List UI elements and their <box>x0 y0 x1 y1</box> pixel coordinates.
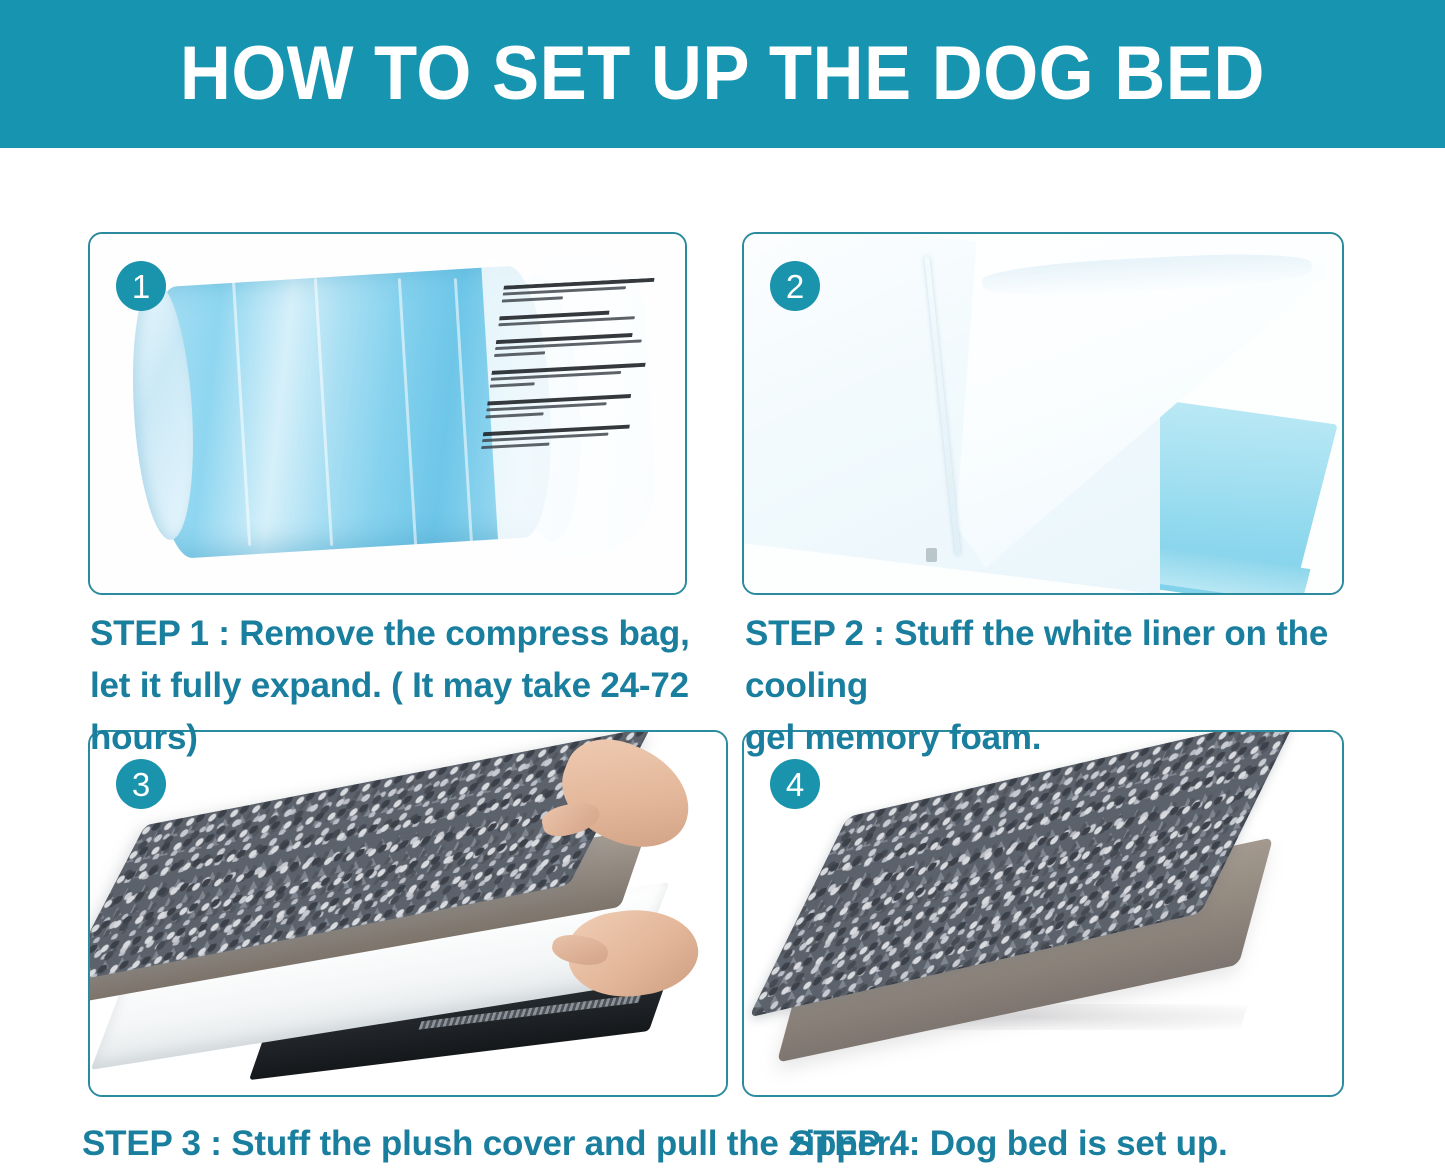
step-4-panel: 4 <box>742 730 1344 1097</box>
step-4-caption: STEP 4: Dog bed is set up. <box>790 1118 1228 1170</box>
header-banner: HOW TO SET UP THE DOG BED <box>0 0 1445 148</box>
step-2-photo <box>744 234 1342 593</box>
page-title: HOW TO SET UP THE DOG BED <box>180 34 1265 114</box>
step-1-photo <box>90 234 685 593</box>
step-3-panel: 3 <box>88 730 728 1097</box>
step-3-badge: 3 <box>116 759 166 809</box>
step-3-photo <box>90 732 726 1095</box>
step-2-caption: STEP 2 : Stuff the white liner on the co… <box>745 608 1425 764</box>
step-4-photo <box>744 732 1342 1095</box>
zipper-slider-icon <box>926 548 937 562</box>
step-2-panel: 2 <box>742 232 1344 595</box>
warning-label-text <box>469 277 675 534</box>
step-1-panel: 1 <box>88 232 687 595</box>
step-1-caption: STEP 1 : Remove the compress bag, let it… <box>90 608 750 764</box>
step-4-badge: 4 <box>770 759 820 809</box>
step-1-badge: 1 <box>116 261 166 311</box>
step-3-caption: STEP 3 : Stuff the plush cover and pull … <box>82 1118 898 1170</box>
step-2-badge: 2 <box>770 261 820 311</box>
